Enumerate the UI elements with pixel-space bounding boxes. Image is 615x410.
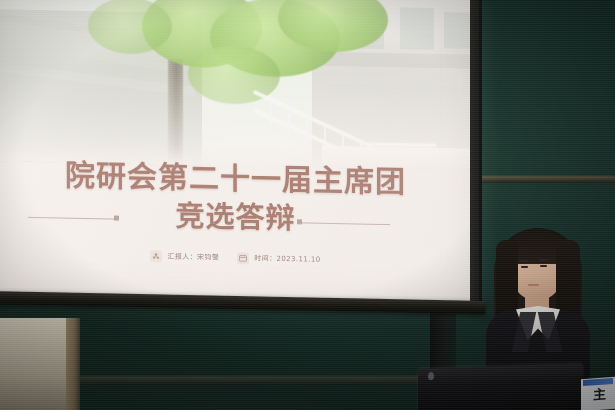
meta-presenter: 汇报人：宋钧謦	[150, 250, 219, 263]
user-icon	[150, 250, 162, 262]
meta-presenter-text: 汇报人：宋钧謦	[167, 252, 219, 263]
calendar-icon	[237, 252, 249, 264]
meta-date-text: 时间：2023.11.10	[254, 253, 320, 264]
laptop-logo-icon	[428, 372, 434, 380]
presenter-eye	[521, 266, 528, 268]
classroom-scene: 院研会第二十一届主席团 竞选答辩 汇报人：	[0, 0, 615, 410]
wall-panel-frame	[66, 318, 80, 410]
presentation-slide: 院研会第二十一届主席团 竞选答辩 汇报人：	[0, 0, 479, 310]
wall-panel	[0, 318, 75, 410]
slide-meta-row: 汇报人：宋钧謦 时间：2023.11.10	[0, 247, 479, 269]
title-divider-dot-left	[114, 216, 119, 221]
name-placard-text: 主	[593, 387, 609, 404]
photo-fade-overlay	[0, 0, 479, 171]
projection-screen: 院研会第二十一届主席团 竞选答辩 汇报人：	[0, 0, 479, 310]
meta-date: 时间：2023.11.10	[237, 252, 320, 266]
laptop	[418, 363, 583, 410]
presenter-brow	[539, 259, 548, 261]
presenter-brow	[520, 260, 529, 262]
slide-photo	[0, 0, 479, 171]
presenter-eye	[540, 265, 547, 267]
title-divider-dot-right	[297, 219, 302, 224]
slide-title-block: 院研会第二十一届主席团 竞选答辩	[0, 157, 479, 239]
presenter-mouth	[528, 284, 539, 286]
